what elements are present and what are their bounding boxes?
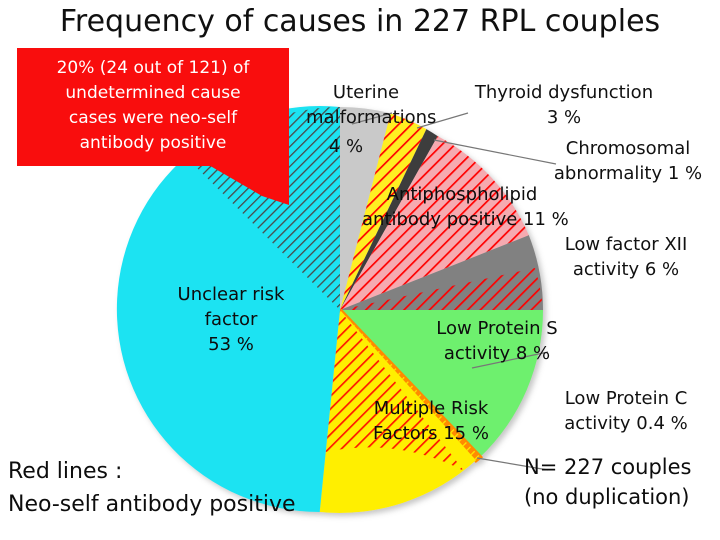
callout-line-2: undetermined cause (27, 81, 279, 106)
label-unclear-line-1: Unclear risk (156, 282, 306, 307)
label-multiple-line-1: Multiple Risk (356, 396, 506, 421)
label-unclear-risk-factor: Unclear risk factor 53 % (156, 282, 306, 357)
label-aps-line-2: antibody positive 11 % (362, 207, 562, 232)
label-uterine-malformations: Uterine malformations (306, 80, 426, 130)
label-unclear-line-2: factor (156, 307, 306, 332)
label-uterine-percent: 4 % (318, 134, 374, 159)
label-multiple-line-2: Factors 15 % (356, 421, 506, 446)
annotation-callout: 20% (24 out of 121) of undetermined caus… (17, 48, 289, 166)
label-unclear-line-3: 53 % (156, 332, 306, 357)
label-antiphospholipid: Antiphospholipid antibody positive 11 % (362, 182, 562, 232)
label-uterine-line-2: malformations (306, 105, 426, 130)
label-low-factor-xii: Low factor XII activity 6 % (540, 232, 712, 282)
label-factorxii-line-1: Low factor XII (540, 232, 712, 257)
label-thyroid-dysfunction: Thyroid dysfunction 3 % (464, 80, 664, 130)
label-thyroid-line-2: 3 % (464, 105, 664, 130)
callout-line-1: 20% (24 out of 121) of (27, 56, 279, 81)
callout-line-3: cases were neo-self (27, 106, 279, 131)
label-factorxii-line-2: activity 6 % (540, 257, 712, 282)
label-aps-line-1: Antiphospholipid (362, 182, 562, 207)
legend-line-1: Red lines : (8, 455, 296, 488)
label-uterine-line-1: Uterine (306, 80, 426, 105)
label-low-protein-c: Low Protein C activity 0.4 % (540, 386, 712, 436)
label-multiple-risk-factors: Multiple Risk Factors 15 % (356, 396, 506, 446)
legend-line-2: Neo-self antibody positive (8, 488, 296, 521)
label-thyroid-line-1: Thyroid dysfunction (464, 80, 664, 105)
label-low-protein-s: Low Protein S activity 8 % (412, 316, 582, 366)
legend-note: Red lines : Neo-self antibody positive (8, 455, 296, 521)
label-proteinc-line-1: Low Protein C (540, 386, 712, 411)
label-chromosomal-abnormality: Chromosomal abnormality 1 % (540, 136, 716, 186)
footnote-line-1: N= 227 couples (524, 452, 691, 482)
label-proteins-line-2: activity 8 % (412, 341, 582, 366)
slide-canvas: Frequency of causes in 227 RPL couples (0, 0, 720, 540)
callout-line-4: antibody positive (27, 131, 279, 156)
label-proteinc-line-2: activity 0.4 % (540, 411, 712, 436)
footnote-line-2: (no duplication) (524, 482, 691, 512)
footnote-sample-size: N= 227 couples (no duplication) (524, 452, 691, 512)
label-proteins-line-1: Low Protein S (412, 316, 582, 341)
label-chromosomal-line-2: abnormality 1 % (540, 161, 716, 186)
label-chromosomal-line-1: Chromosomal (540, 136, 716, 161)
